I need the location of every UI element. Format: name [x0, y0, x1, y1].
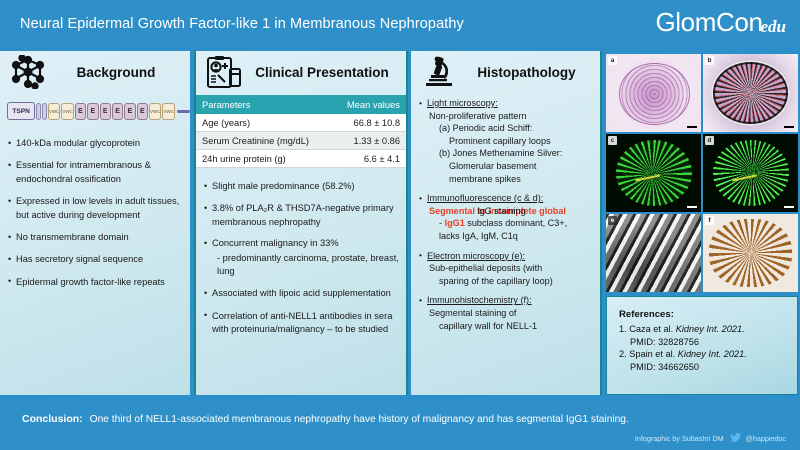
panel-label-d: d — [705, 136, 714, 145]
credit-author: Infographic by Subashri DM — [635, 434, 724, 443]
if-sub-line2: lacks IgA, IgM, C1q — [427, 230, 594, 243]
list-item: Correlation of anti-NELL1 antibodies in … — [204, 310, 399, 337]
list-item: Epidermal growth factor-like repeats — [8, 276, 183, 289]
if-sub-rest: subclass dominant, C3+, — [465, 218, 567, 228]
table-header-row: Parameters Mean values — [196, 95, 406, 114]
immunofluorescence-block: Immunofluorescence (c & d): Segmental to… — [419, 192, 594, 242]
reference-number: 1. — [619, 324, 627, 334]
clipboard-chart-icon — [202, 54, 246, 90]
cell-parameter: Serum Creatinine (mg/dL) — [196, 132, 332, 150]
list-item: 140-kDa modular glycoprotein — [8, 137, 183, 150]
domain-egf-5: E — [124, 103, 135, 120]
cell-parameter: 24h urine protein (g) — [196, 150, 332, 168]
light-microscopy-heading: Light microscopy: — [427, 98, 498, 108]
conclusion-bar: Conclusion: One third of NELL1-associate… — [0, 402, 800, 450]
microscope-icon — [417, 54, 461, 90]
panel-label-c: c — [608, 136, 617, 145]
light-microscopy-line4: (b) Jones Methenamine Silver: — [427, 147, 594, 160]
column-header-parameters: Parameters — [196, 95, 332, 114]
electron-microscopy-image: e — [606, 214, 701, 292]
light-microscopy-block: Light microscopy: Non-proliferative patt… — [419, 97, 594, 185]
clinical-panel-title: Clinical Presentation — [246, 65, 406, 80]
domain-egf-6: E — [137, 103, 148, 120]
panel-label-e: e — [608, 216, 617, 225]
light-microscopy-line1: Non-proliferative pattern — [427, 110, 594, 123]
list-item: Concurrent malignancy in 33% — [204, 237, 399, 250]
reference-item: 2. Spain et al. Kidney Int. 2021. — [619, 348, 789, 361]
background-bullet-list: 140-kDa modular glycoprotein Essential f… — [0, 123, 190, 289]
cell-value: 1.33 ± 0.86 — [332, 132, 406, 150]
em-line2: sparing of the capillary loop) — [427, 275, 594, 288]
panel-label-a: a — [608, 56, 617, 65]
if-sub-dash: - — [439, 218, 442, 228]
panel-label-b: b — [705, 56, 714, 65]
logo-text: GlomCon — [655, 7, 762, 38]
domain-vwc-4: VWC — [162, 103, 175, 120]
list-item: Associated with lipoic acid supplementat… — [204, 287, 399, 300]
if-after-red: IgG staining — [477, 206, 526, 216]
table-row: Age (years) 66.8 ± 10.8 — [196, 114, 406, 132]
panels-row: Background TSPN VWC VWC E E E E E E VWC … — [0, 48, 800, 399]
immunohistochemistry-block: Immunohistochemistry (f): Segmental stai… — [419, 294, 594, 332]
annotation-arrow — [732, 174, 756, 181]
periodic-acid-schiff-image: a — [606, 54, 701, 132]
background-panel: Background TSPN VWC VWC E E E E E E VWC … — [0, 51, 192, 395]
cell-value: 6.6 ± 4.1 — [332, 150, 406, 168]
list-item: Essential for intramembranous & endochon… — [8, 159, 183, 186]
if-sub-igg1: IgG1 — [445, 218, 465, 228]
immunohistochemistry-heading: Immunohistochemistry (f): — [427, 295, 532, 305]
light-microscopy-line3: Prominent capillary loops — [427, 135, 594, 148]
histopathology-content: Light microscopy: Non-proliferative patt… — [411, 93, 600, 332]
electron-microscopy-heading: Electron microscopy (e): — [427, 251, 525, 261]
column-header-mean-values: Mean values — [332, 95, 406, 114]
domain-vwc-1: VWC — [48, 103, 61, 120]
scale-bar — [687, 126, 697, 128]
jones-methenamine-silver-image: b — [703, 54, 798, 132]
scale-bar — [784, 126, 794, 128]
clinical-presentation-panel: Clinical Presentation Parameters Mean va… — [194, 51, 408, 395]
credit-handle: @happiedoc — [746, 434, 786, 443]
domain-egf-3: E — [100, 103, 111, 120]
cell-value: 66.8 ± 10.8 — [332, 114, 406, 132]
cell-parameter: Age (years) — [196, 114, 332, 132]
conclusion-line: Conclusion: One third of NELL1-associate… — [0, 402, 800, 425]
domain-tail — [177, 110, 190, 113]
glomcon-logo: GlomCon edu — [655, 7, 786, 38]
immunofluorescence-igg-image: c — [606, 134, 701, 212]
references-title: References: — [619, 309, 789, 320]
immunohistochemistry-nell1-image: f — [703, 214, 798, 292]
immunofluorescence-heading: Immunofluorescence (c & d): — [427, 193, 543, 203]
infographic-poster: Neural Epidermal Growth Factor-like 1 in… — [0, 0, 800, 450]
histopathology-panel-title: Histopathology — [461, 65, 600, 80]
twitter-icon — [730, 433, 741, 444]
scale-bar — [784, 206, 794, 208]
header-bar: Neural Epidermal Growth Factor-like 1 in… — [0, 0, 800, 48]
list-item: Has secretory signal sequence — [8, 253, 183, 266]
light-microscopy-line6: membrane spikes — [427, 173, 594, 186]
reference-pmid: PMID: 34662650 — [619, 361, 789, 374]
images-panel: a b c d e — [604, 51, 800, 395]
domain-egf-1: E — [75, 103, 86, 120]
references-box: References: 1. Caza et al. Kidney Int. 2… — [606, 296, 798, 395]
reference-journal: Kidney Int. 2021. — [676, 324, 745, 334]
domain-cc-2 — [42, 103, 47, 120]
ihc-line2: capillary wall for NELL-1 — [427, 320, 594, 333]
light-microscopy-line2: (a) Periodic acid Schiff: — [427, 122, 594, 135]
table-row: 24h urine protein (g) 6.6 ± 4.1 — [196, 150, 406, 168]
annotation-arrow — [635, 174, 659, 181]
credit-line: Infographic by Subashri DM @happiedoc — [635, 433, 786, 444]
electron-microscopy-block: Electron microscopy (e): Sub-epithelial … — [419, 250, 594, 288]
conclusion-label: Conclusion: — [22, 413, 83, 425]
molecule-icon — [6, 54, 50, 90]
em-line1: Sub-epithelial deposits (with — [427, 262, 594, 275]
panel-label-f: f — [705, 216, 714, 225]
domain-egf-2: E — [87, 103, 98, 120]
domain-tspn: TSPN — [7, 102, 35, 120]
immunofluorescence-igg1-image: d — [703, 134, 798, 212]
conclusion-text: One third of NELL1-associated membranous… — [90, 414, 629, 425]
reference-author: Caza et al. — [629, 324, 673, 334]
reference-number: 2. — [619, 349, 627, 359]
table-row: Serum Creatinine (mg/dL) 1.33 ± 0.86 — [196, 132, 406, 150]
list-item: Expressed in low levels in adult tissues… — [8, 195, 183, 222]
domain-egf-4: E — [112, 103, 123, 120]
domain-cc-1 — [36, 103, 41, 120]
light-microscopy-line5: Glomerular basement — [427, 160, 594, 173]
background-panel-header: Background — [0, 51, 190, 93]
reference-item: 1. Caza et al. Kidney Int. 2021. — [619, 323, 789, 336]
list-item: Slight male predominance (58.2%) — [204, 180, 399, 193]
clinical-panel-header: Clinical Presentation — [196, 51, 406, 93]
page-title: Neural Epidermal Growth Factor-like 1 in… — [20, 16, 464, 32]
list-item: No transmembrane domain — [8, 231, 183, 244]
nell1-domain-diagram: TSPN VWC VWC E E E E E E VWC VWC — [7, 99, 190, 123]
list-item: 3.8% of PLA₂R & THSD7A-negative primary … — [204, 202, 399, 229]
micrograph-grid: a b c d e — [606, 54, 798, 292]
scale-bar — [687, 206, 697, 208]
clinical-bullet-list: Slight male predominance (58.2%) 3.8% of… — [196, 168, 406, 337]
list-item-sub: - predominantly carcinoma, prostate, bre… — [204, 252, 399, 279]
logo-suffix: edu — [761, 17, 787, 37]
background-panel-title: Background — [50, 65, 190, 80]
reference-journal: Kidney Int. 2021. — [678, 349, 747, 359]
domain-vwc-2: VWC — [61, 103, 74, 120]
ihc-line1: Segmental staining of — [427, 307, 594, 320]
reference-pmid: PMID: 32828756 — [619, 336, 789, 349]
histopathology-panel: Histopathology Light microscopy: Non-pro… — [410, 51, 602, 395]
reference-author: Spain et al. — [629, 349, 675, 359]
histopathology-panel-header: Histopathology — [411, 51, 600, 93]
clinical-parameters-table: Parameters Mean values Age (years) 66.8 … — [196, 95, 406, 168]
domain-vwc-3: VWC — [149, 103, 162, 120]
